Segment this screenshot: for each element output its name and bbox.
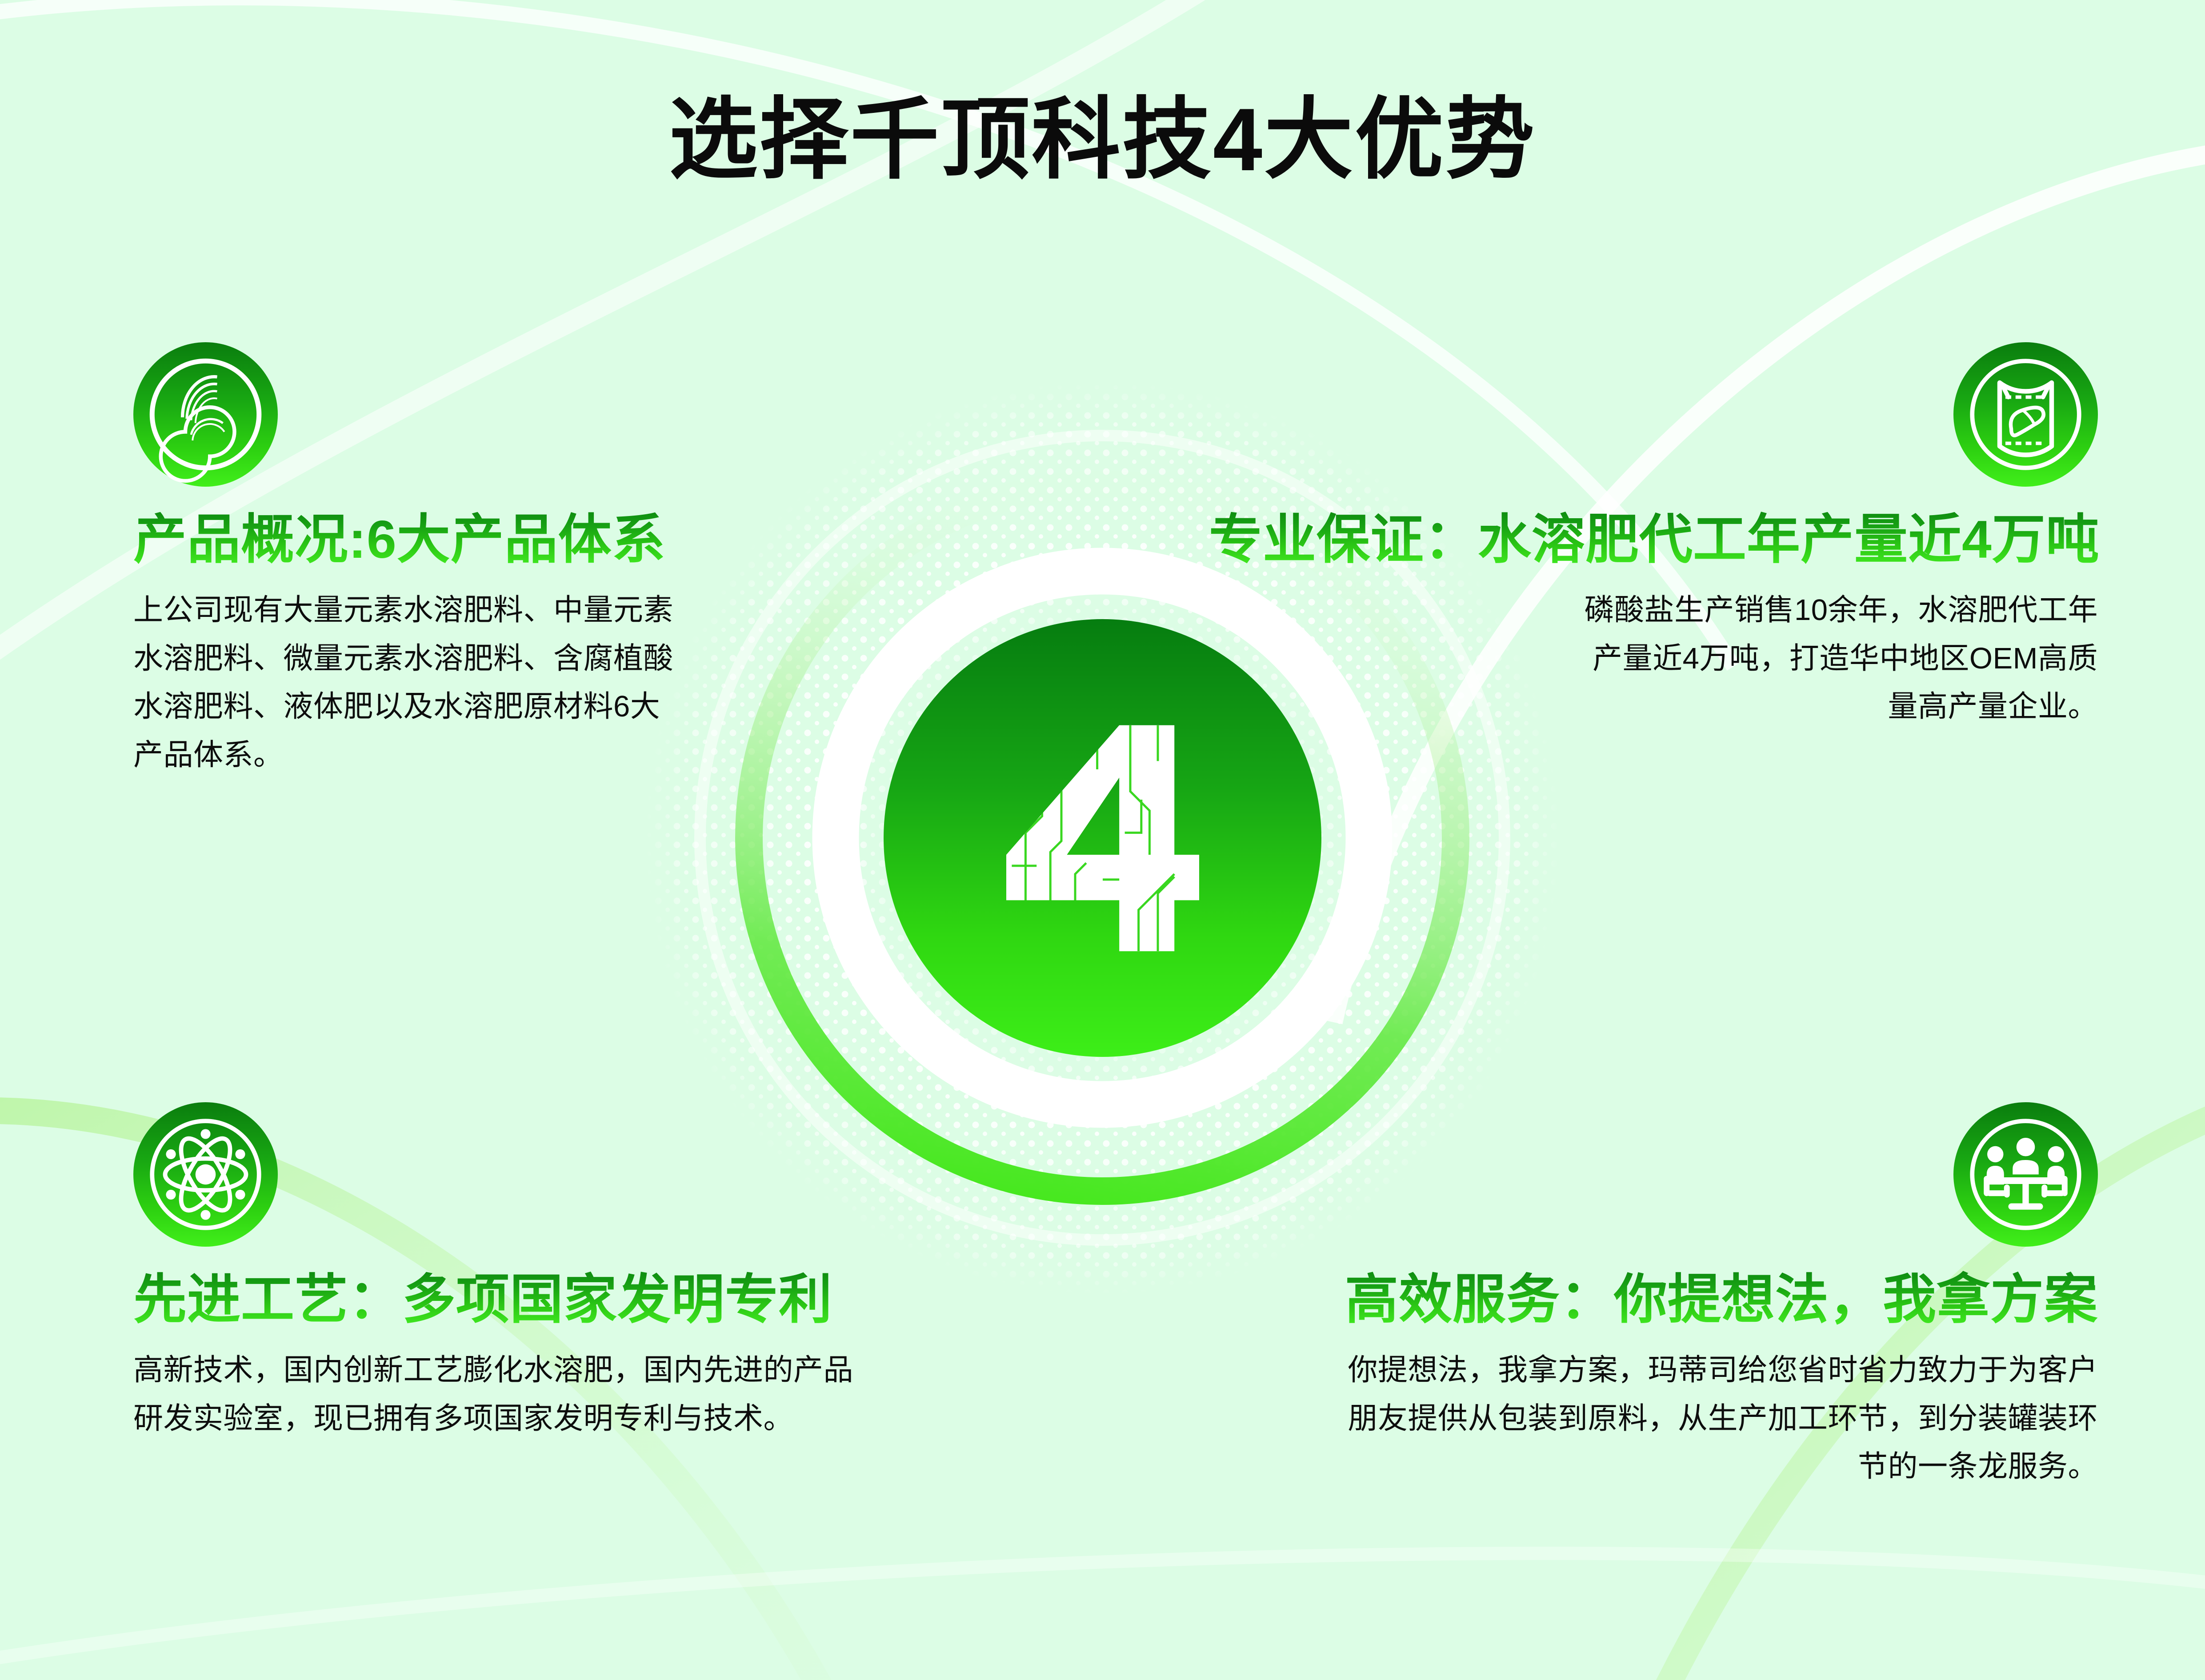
advantage-heading: 高效服务：你提想法，我拿方案 [1316, 1270, 2098, 1329]
fertilizer-bag-icon [1953, 342, 2098, 487]
infographic-canvas: 选择千顶科技4大优势 [0, 0, 2205, 1680]
advantage-body: 你提想法，我拿方案，玛蒂司给您省时省力致力于为客户朋友提供从包装到原料，从生产加… [1342, 1346, 2098, 1491]
advantage-heading: 先进工艺：多项国家发明专利 [133, 1270, 889, 1329]
atom-icon [133, 1102, 278, 1247]
advantage-heading: 产品概况:6大产品体系 [133, 510, 707, 569]
page-title: 选择千顶科技4大优势 [0, 91, 2205, 189]
advantage-block-bottom-right: 高效服务：你提想法，我拿方案 你提想法，我拿方案，玛蒂司给您省时省力致力于为客户… [1316, 1102, 2098, 1491]
center-number-four [965, 700, 1241, 976]
advantage-body: 上公司现有大量元素水溶肥料、中量元素水溶肥料、微量元素水溶肥料、含腐植酸水溶肥料… [133, 586, 680, 779]
meeting-table-people-icon [1953, 1102, 2098, 1247]
advantage-body: 高新技术，国内创新工艺膨化水溶肥，国内先进的产品研发实验室，现已拥有多项国家发明… [133, 1346, 880, 1443]
advantage-block-top-left: 产品概况:6大产品体系 上公司现有大量元素水溶肥料、中量元素水溶肥料、微量元素水… [133, 342, 707, 780]
advantage-heading: 专业保证：水溶肥代工年产量近4万吨 [1209, 510, 2098, 569]
number-six-swirl-icon [133, 342, 278, 487]
advantage-block-bottom-left: 先进工艺：多项国家发明专利 高新技术，国内创新工艺膨化水溶肥，国内先进的产品研发… [133, 1102, 889, 1443]
advantage-body: 磷酸盐生产销售10余年，水溶肥代工年产量近4万吨，打造华中地区OEM高质量高产量… [1573, 586, 2098, 731]
advantage-block-top-right: 专业保证：水溶肥代工年产量近4万吨 磷酸盐生产销售10余年，水溶肥代工年产量近4… [1209, 342, 2098, 731]
